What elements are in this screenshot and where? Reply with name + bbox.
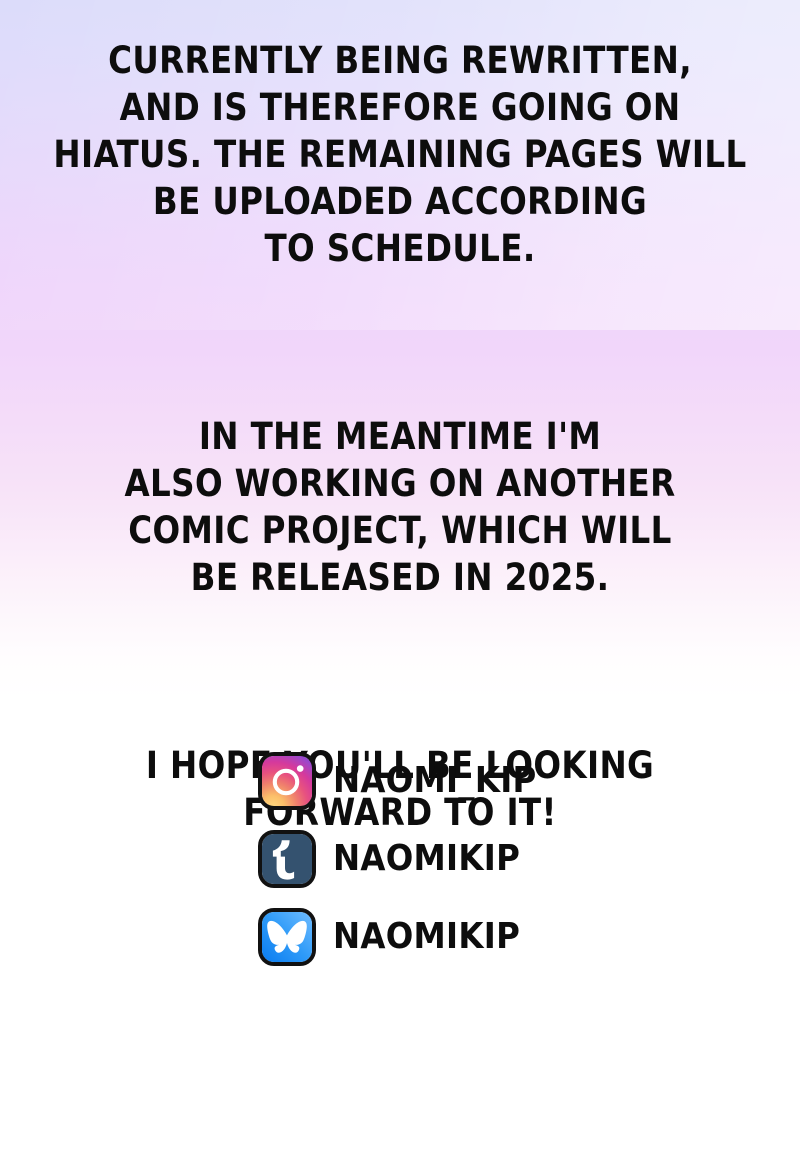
instagram-handle: NAOMI_KIP — [333, 761, 537, 801]
announcement-text-block: CURRENTLY BEING REWRITTEN, AND IS THEREF… — [48, 0, 752, 883]
social-row-instagram[interactable]: NAOMI_KIP — [258, 752, 738, 810]
announcement-paragraph-1: CURRENTLY BEING REWRITTEN, AND IS THEREF… — [48, 37, 752, 272]
instagram-icon[interactable] — [258, 752, 316, 810]
tumblr-handle: NAOMIKIP — [333, 839, 520, 879]
tumblr-icon[interactable] — [258, 830, 316, 888]
paragraph-spacer — [48, 648, 752, 695]
social-row-tumblr[interactable]: NAOMIKIP — [258, 830, 738, 888]
paragraph-spacer — [48, 319, 752, 366]
bluesky-icon[interactable] — [258, 908, 316, 966]
announcement-paragraph-2: IN THE MEANTIME I'M ALSO WORKING ON ANOT… — [48, 413, 752, 601]
social-links-list: NAOMI_KIP NAOMIKIP — [258, 752, 738, 986]
comic-page: CURRENTLY BEING REWRITTEN, AND IS THEREF… — [0, 0, 800, 1176]
bluesky-handle: NAOMIKIP — [333, 917, 520, 957]
social-row-bluesky[interactable]: NAOMIKIP — [258, 908, 738, 966]
